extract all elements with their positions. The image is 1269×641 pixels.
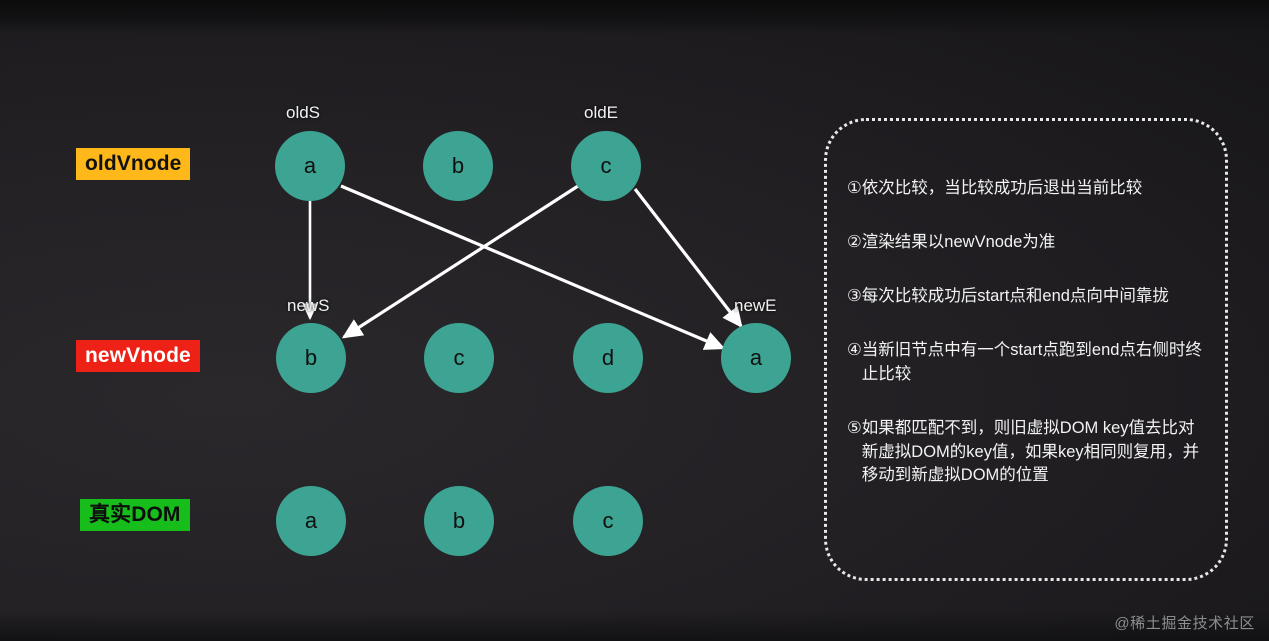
pointer-label-newe: newE <box>734 296 777 316</box>
node-oldvnode-1[interactable]: b <box>423 131 493 201</box>
arrow-layer <box>0 0 1269 641</box>
node-realdom-0[interactable]: a <box>276 486 346 556</box>
node-newvnode-2[interactable]: d <box>573 323 643 393</box>
node-realdom-2[interactable]: c <box>573 486 643 556</box>
pointer-label-news: newS <box>287 296 330 316</box>
node-oldvnode-2[interactable]: c <box>571 131 641 201</box>
node-newvnode-1[interactable]: c <box>424 323 494 393</box>
node-newvnode-3[interactable]: a <box>721 323 791 393</box>
arrow-oldc-to-newb <box>344 186 578 337</box>
node-oldvnode-0[interactable]: a <box>275 131 345 201</box>
node-realdom-1[interactable]: b <box>424 486 494 556</box>
diagram-canvas: oldVnode oldS oldE a b c newVnode newS n… <box>0 0 1269 641</box>
watermark: @稀土掘金技术社区 <box>1114 612 1255 633</box>
pointer-label-olds: oldS <box>286 103 320 123</box>
node-newvnode-0[interactable]: b <box>276 323 346 393</box>
arrow-oldc-to-newa <box>635 189 741 326</box>
pointer-label-olde: oldE <box>584 103 618 123</box>
arrow-olda-to-newa <box>341 186 723 348</box>
